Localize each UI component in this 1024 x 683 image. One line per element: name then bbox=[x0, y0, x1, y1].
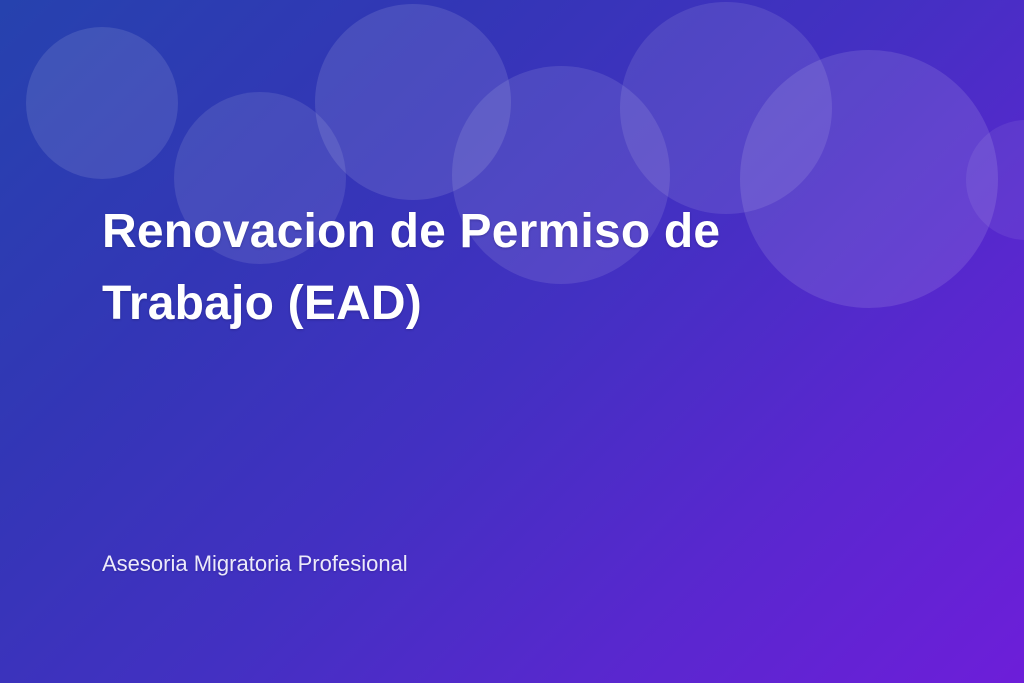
slide-subtitle: Asesoria Migratoria Profesional bbox=[102, 549, 408, 579]
slide-content: Renovacion de Permiso de Trabajo (EAD) A… bbox=[102, 0, 922, 683]
circle-icon bbox=[966, 120, 1024, 240]
page-title: Renovacion de Permiso de Trabajo (EAD) bbox=[102, 196, 802, 340]
title-slide: Renovacion de Permiso de Trabajo (EAD) A… bbox=[0, 0, 1024, 683]
